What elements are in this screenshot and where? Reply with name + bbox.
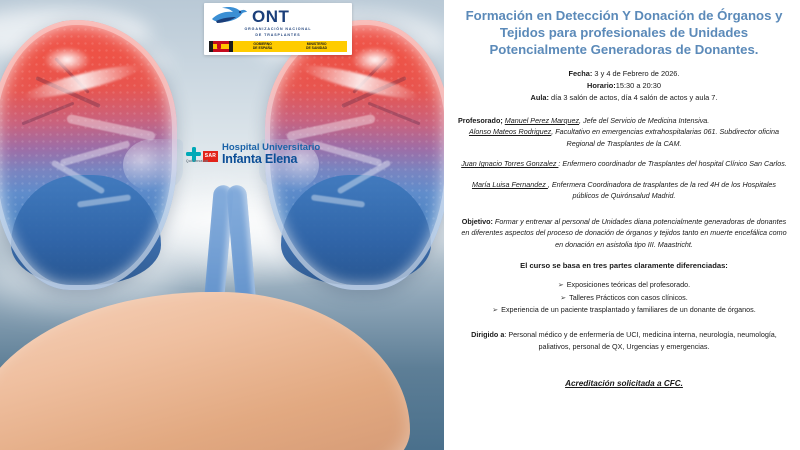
partes-heading: El curso se basa en tres partes claramen…: [458, 261, 790, 270]
arrow-bullet-icon: ➢: [560, 295, 566, 302]
profesor-role: : Enfermero coordinador de Trasplantes d…: [558, 159, 786, 168]
profesorado-entry-4: María Luisa Fernandez , Enfermera Coordi…: [458, 179, 790, 202]
dirigido-text: : Personal médico y de enfermería de UCI…: [504, 330, 776, 351]
profesorado-label: Profesorado;: [458, 116, 503, 125]
profesor-role: , Enfermera Coordinadora de trasplantes …: [548, 180, 776, 201]
spain-flag-block: [209, 41, 233, 52]
meta-fecha: Fecha: 3 y 4 de Febrero de 2026.: [458, 68, 790, 80]
quironsalud-tagline: Quirónsalud: [186, 159, 208, 163]
profesor-name: Manuel Perez Marquez: [505, 116, 579, 125]
arrow-bullet-icon: ➢: [558, 282, 564, 289]
meta-fecha-value: 3 y 4 de Febrero de 2026.: [592, 69, 679, 78]
profesor-role: , Jefe del Servicio de Medicina Intensiv…: [579, 116, 709, 125]
hospital-logo-text: Hospital Universitario Infanta Elena: [222, 143, 320, 165]
profesorado-entry-2: Alonso Mateos Rodriguez, Facultativo en …: [458, 126, 790, 149]
profesor-name: Alonso Mateos Rodriguez: [469, 127, 551, 136]
list-item-label: Experiencia de un paciente trasplantado …: [501, 305, 756, 314]
poster-text-panel: Formación en Detección Y Donación de Órg…: [444, 0, 800, 450]
objetivo-text: Formar y entrenar al personal de Unidade…: [461, 217, 786, 249]
poster-title: Formación en Detección Y Donación de Órg…: [462, 8, 786, 59]
acreditacion-note: Acreditación solicitada a CFC.: [458, 379, 790, 388]
profesor-name: María Luisa Fernandez: [472, 180, 548, 189]
hospital-logo-mark: SAR Quirónsalud: [186, 147, 218, 162]
list-item: ➢Experiencia de un paciente trasplantado…: [458, 304, 790, 316]
meta-horario: Horario:15:30 a 20:30: [458, 80, 790, 92]
dirigido-block: Dirigido a: Personal médico y de enferme…: [458, 329, 790, 352]
kidney-highlight: [352, 47, 398, 73]
profesor-name: Juan Ignacio Torres Gonzalez: [461, 159, 558, 168]
spain-flag-icon: [213, 41, 229, 52]
meta-horario-value: 15:30 a 20:30: [616, 81, 661, 90]
list-item: ➢Talleres Prácticos con casos clínicos.: [458, 292, 790, 304]
ont-logo-top: ONT: [204, 3, 352, 26]
profesor-role: , Facultativo en emergencias extrahospit…: [551, 127, 779, 148]
list-item-label: Talleres Prácticos con casos clínicos.: [569, 293, 688, 302]
meta-fecha-label: Fecha:: [569, 69, 593, 78]
kidney-left: [0, 20, 177, 290]
kidney-highlight: [44, 47, 90, 73]
palm: [0, 292, 410, 450]
profesorado-entry-3: Juan Ignacio Torres Gonzalez : Enfermero…: [458, 158, 790, 170]
ont-subtitle-line2: DE TRASPLANTES: [204, 32, 352, 40]
ont-bird-icon: [210, 6, 248, 26]
cupped-hand: [0, 262, 440, 450]
hospital-infanta-elena-logo: SAR Quirónsalud Hospital Universitario I…: [186, 143, 320, 165]
gobierno-label: GOBIERNO DE ESPAÑA: [253, 42, 273, 51]
dirigido-label: Dirigido a: [471, 330, 504, 339]
gobierno-text: GOBIERNO DE ESPAÑA MINISTERIO DE SANIDAD: [233, 41, 347, 52]
meta-aula: Aula: día 3 salón de actos, día 4 salón …: [458, 92, 790, 104]
profesorado-block: Profesorado; Manuel Perez Marquez, Jefe …: [458, 115, 790, 202]
hospital-name-line2: Infanta Elena: [222, 153, 320, 166]
kidneys-in-hand-photo: ONT ORGANIZACIÓN NACIONAL DE TRASPLANTES…: [0, 0, 444, 450]
ont-logo: ONT ORGANIZACIÓN NACIONAL DE TRASPLANTES…: [204, 3, 352, 55]
poster: ONT ORGANIZACIÓN NACIONAL DE TRASPLANTES…: [0, 0, 800, 450]
course-parts-list: ➢Exposiciones teóricas del profesorado. …: [458, 279, 790, 316]
course-meta: Fecha: 3 y 4 de Febrero de 2026. Horario…: [458, 68, 790, 104]
meta-horario-label: Horario:: [587, 81, 616, 90]
gobierno-de-espana-bar: GOBIERNO DE ESPAÑA MINISTERIO DE SANIDAD: [209, 41, 347, 52]
ont-acronym: ONT: [252, 8, 289, 25]
profesorado-entry-1: Profesorado; Manuel Perez Marquez, Jefe …: [458, 115, 790, 127]
ministerio-label: MINISTERIO DE SANIDAD: [306, 42, 327, 51]
list-item-label: Exposiciones teóricas del profesorado.: [567, 280, 690, 289]
objetivo-label: Objetivo:: [462, 217, 493, 226]
list-item: ➢Exposiciones teóricas del profesorado.: [458, 279, 790, 291]
meta-aula-label: Aula:: [531, 93, 549, 102]
arrow-bullet-icon: ➢: [492, 307, 498, 314]
objetivo-block: Objetivo: Formar y entrenar al personal …: [458, 216, 790, 251]
meta-aula-value: día 3 salón de actos, día 4 salón de act…: [549, 93, 717, 102]
